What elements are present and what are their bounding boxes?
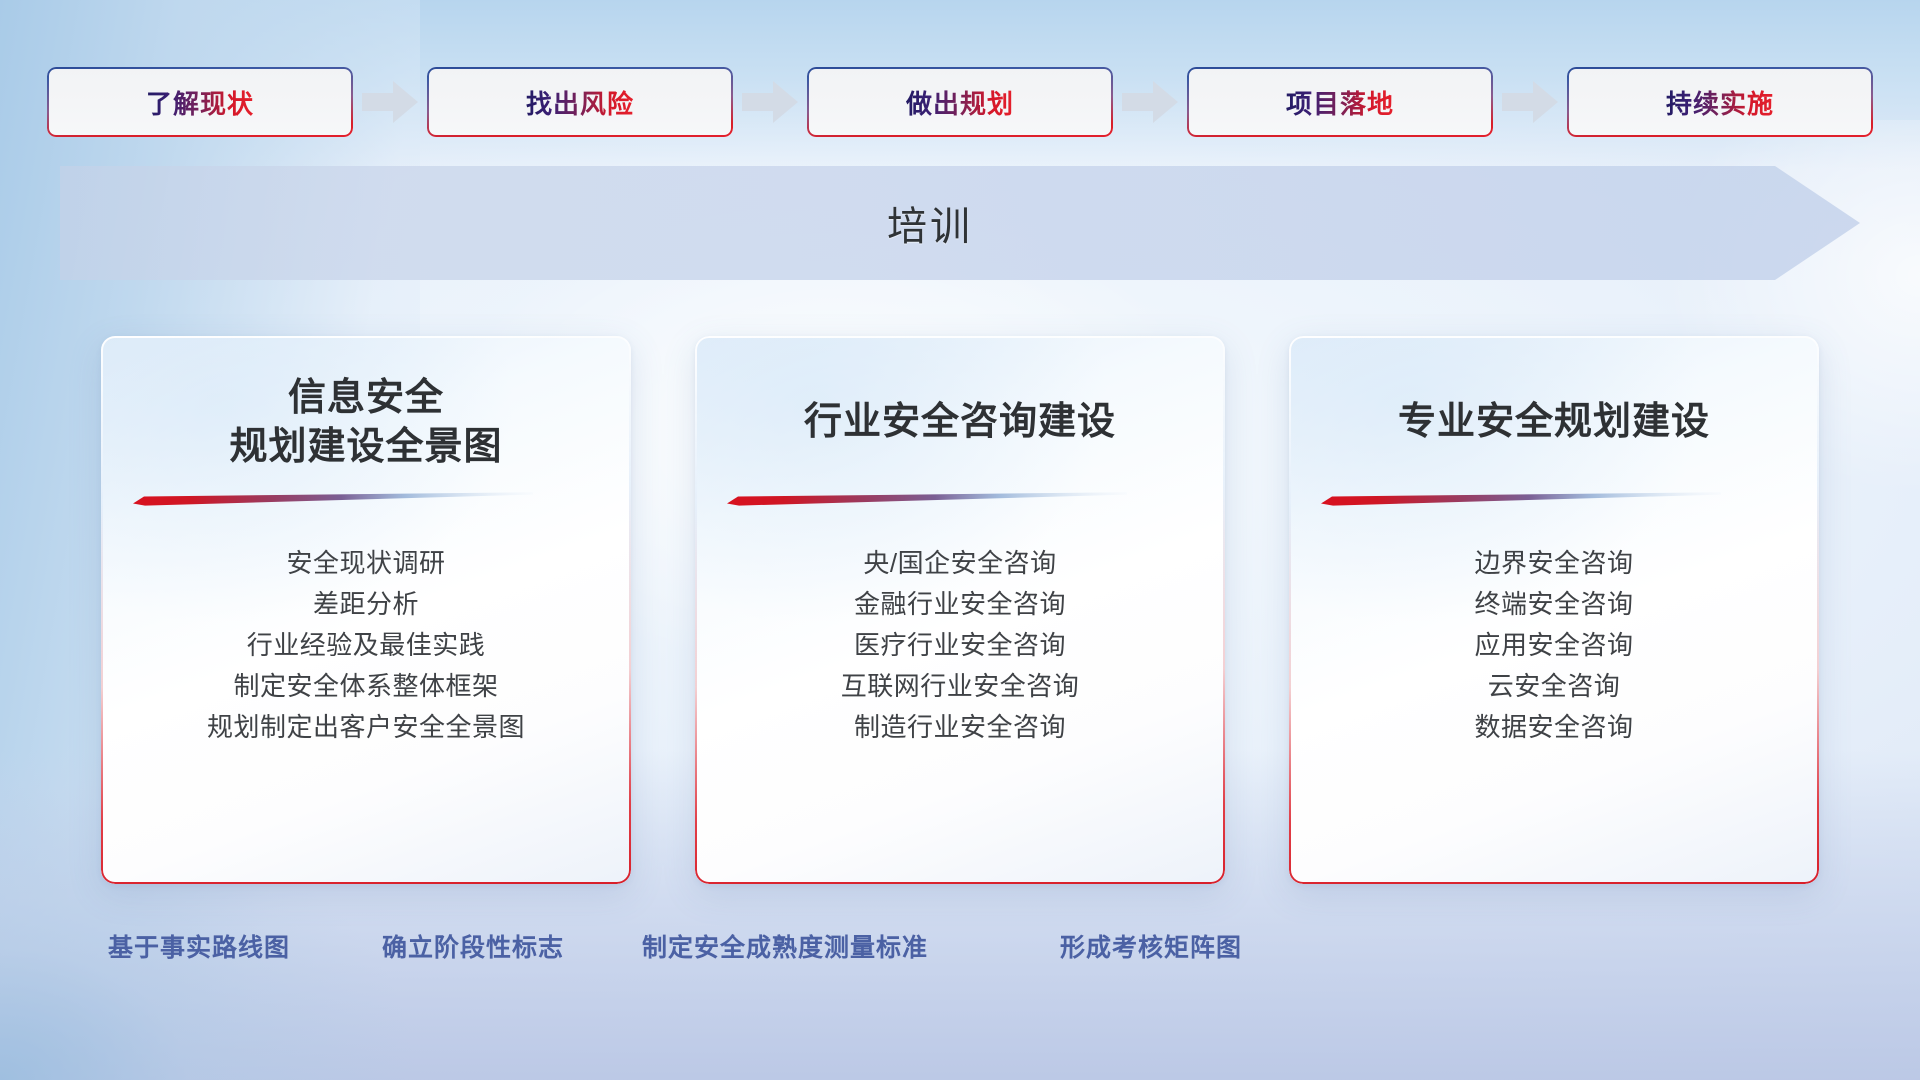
caption-2: 确立阶段性标志 (382, 928, 564, 964)
list-item: 规划制定出客户安全全景图 (207, 706, 525, 747)
list-item: 差距分析 (313, 583, 419, 624)
list-item: 行业经验及最佳实践 (247, 624, 486, 665)
list-item: 医疗行业安全咨询 (854, 624, 1066, 665)
card-professional-security-planning[interactable]: 专业安全规划建设 (1289, 336, 1819, 884)
card-list-3: 边界安全咨询 终端安全咨询 应用安全咨询 云安全咨询 数据安全咨询 (1289, 542, 1819, 747)
list-item: 应用安全咨询 (1474, 624, 1633, 665)
card-list-2: 央/国企安全咨询 金融行业安全咨询 医疗行业安全咨询 互联网行业安全咨询 制造行… (695, 542, 1225, 747)
list-item: 互联网行业安全咨询 (841, 665, 1080, 706)
list-item: 央/国企安全咨询 (863, 542, 1056, 583)
process-step-1[interactable]: 了解现状 (47, 67, 353, 137)
arrow-right-icon-4 (1500, 79, 1560, 125)
list-item: 安全现状调研 (286, 542, 445, 583)
process-step-5[interactable]: 持续实施 (1567, 67, 1873, 137)
list-item: 云安全咨询 (1488, 665, 1621, 706)
list-item: 制定安全体系整体框架 (233, 665, 498, 706)
process-step-5-label: 持续实施 (1666, 84, 1774, 121)
card-divider-1 (131, 490, 535, 506)
training-banner-label: 培训 (60, 166, 1800, 280)
list-item: 数据安全咨询 (1474, 706, 1633, 747)
service-cards: 信息安全 规划建设全景图 (0, 336, 1920, 888)
process-step-3[interactable]: 做出规划 (807, 67, 1113, 137)
card-title-3: 专业安全规划建设 (1398, 398, 1710, 447)
card-divider-3 (1319, 490, 1723, 506)
process-step-1-label: 了解现状 (146, 84, 254, 121)
caption-1: 基于事实路线图 (108, 928, 290, 964)
list-item: 制造行业安全咨询 (854, 706, 1066, 747)
caption-3: 制定安全成熟度测量标准 (642, 928, 928, 964)
arrow-right-icon-2 (740, 79, 800, 125)
process-step-3-label: 做出规划 (906, 84, 1014, 121)
process-step-2[interactable]: 找出风险 (427, 67, 733, 137)
caption-4: 形成考核矩阵图 (1060, 928, 1242, 964)
process-flow: 了解现状 找出风险 做出规划 项目落地 持续实施 (0, 63, 1920, 141)
training-banner: 培训 (60, 166, 1860, 280)
list-item: 终端安全咨询 (1474, 583, 1633, 624)
process-step-2-label: 找出风险 (526, 84, 634, 121)
card-list-1: 安全现状调研 差距分析 行业经验及最佳实践 制定安全体系整体框架 规划制定出客户… (101, 542, 631, 747)
card-title-1: 信息安全 规划建设全景图 (229, 374, 502, 471)
card-information-security-blueprint[interactable]: 信息安全 规划建设全景图 (101, 336, 631, 884)
list-item: 金融行业安全咨询 (854, 583, 1066, 624)
card-title-2: 行业安全咨询建设 (804, 398, 1116, 447)
caption-row: 基于事实路线图 确立阶段性标志 制定安全成熟度测量标准 形成考核矩阵图 (0, 928, 1920, 978)
list-item: 边界安全咨询 (1474, 542, 1633, 583)
arrow-right-icon-3 (1120, 79, 1180, 125)
arrow-right-icon-1 (360, 79, 420, 125)
process-step-4[interactable]: 项目落地 (1187, 67, 1493, 137)
card-divider-2 (725, 490, 1129, 506)
card-industry-security-consulting[interactable]: 行业安全咨询建设 (695, 336, 1225, 884)
process-step-4-label: 项目落地 (1286, 84, 1394, 121)
